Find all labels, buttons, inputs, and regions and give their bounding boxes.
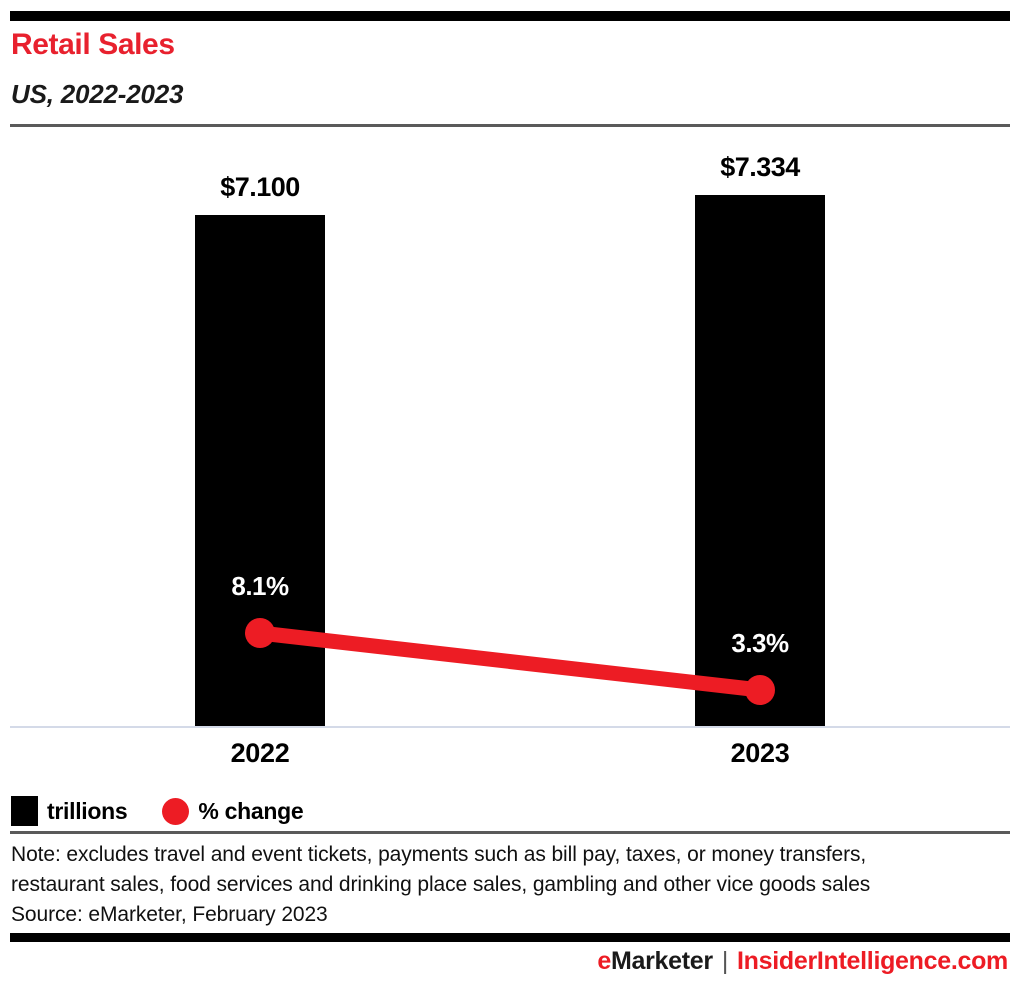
chart-notes: Note: excludes travel and event tickets,… (11, 840, 1011, 930)
legend-item-pct-change: % change (162, 798, 303, 825)
pct-change-line (260, 633, 760, 690)
header-divider (10, 124, 1010, 127)
pct-change-marker-2022 (245, 618, 275, 648)
footer-branding: eMarketer | InsiderIntelligence.com (597, 947, 1008, 976)
square-swatch-icon (11, 796, 38, 826)
page-title: Retail Sales (11, 27, 175, 63)
brand-separator: | (722, 947, 728, 976)
notes-divider (10, 831, 1010, 834)
pct-change-marker-2023 (745, 675, 775, 705)
legend-label-pct-change: % change (198, 798, 303, 825)
footer-divider (10, 933, 1010, 942)
note-line-1: Note: excludes travel and event tickets,… (11, 840, 1011, 870)
brand-name: Marketer (611, 947, 713, 976)
legend-label-trillions: trillions (47, 798, 127, 825)
chart-page: Retail Sales US, 2022-2023 $7.100 $7.334… (0, 0, 1020, 984)
note-line-2: restaurant sales, food services and drin… (11, 870, 1011, 900)
chart-plot-area: $7.100 $7.334 8.1% 3.3% 2022 2023 (0, 130, 1020, 730)
top-rule (10, 11, 1010, 21)
chart-legend: trillions % change (11, 795, 338, 827)
x-axis-label-2022: 2022 (160, 738, 360, 769)
pct-change-line-series (0, 130, 1020, 730)
brand-prefix: e (597, 947, 611, 976)
circle-swatch-icon (162, 798, 189, 825)
legend-item-trillions: trillions (11, 796, 127, 826)
note-source: Source: eMarketer, February 2023 (11, 900, 1011, 930)
brand-website[interactable]: InsiderIntelligence.com (737, 947, 1008, 976)
x-axis-label-2023: 2023 (660, 738, 860, 769)
page-subtitle: US, 2022-2023 (11, 78, 183, 110)
